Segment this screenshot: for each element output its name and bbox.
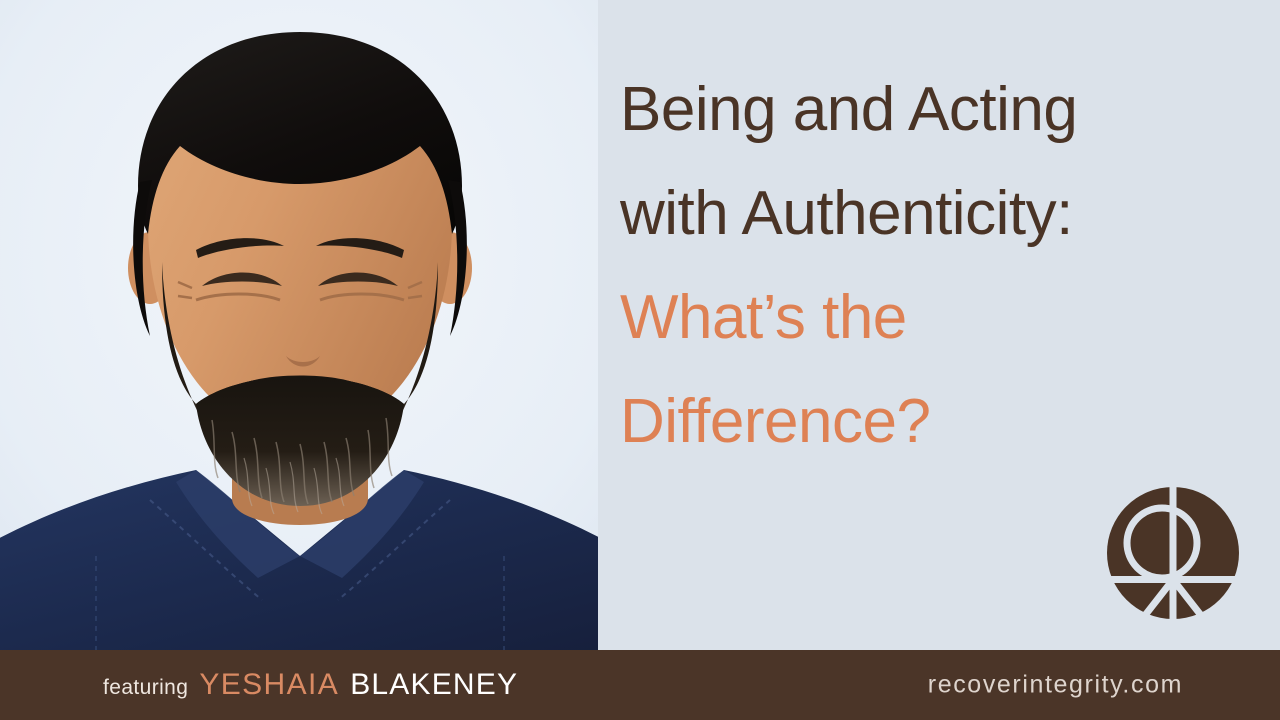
- footer-bar: featuring YESHAIA BLAKENEY recoverintegr…: [0, 650, 1280, 720]
- guest-last-name: BLAKENEY: [350, 668, 518, 702]
- featuring-label: featuring: [103, 676, 188, 700]
- guest-portrait-photo: [0, 0, 598, 650]
- title-line-1: Being and Acting: [620, 58, 1240, 162]
- website-url: recoverintegrity.com: [928, 671, 1183, 700]
- recover-integrity-logo-icon: [1106, 486, 1240, 620]
- title-line-3: What’s the: [620, 266, 1240, 370]
- guest-first-name: YESHAIA: [199, 668, 339, 702]
- portrait-illustration: [0, 0, 598, 650]
- episode-title: Being and Acting with Authenticity: What…: [620, 58, 1240, 474]
- logo-glyph: [1106, 486, 1240, 620]
- title-line-2: with Authenticity:: [620, 162, 1240, 266]
- title-line-4: Difference?: [620, 370, 1240, 474]
- episode-title-card: Being and Acting with Authenticity: What…: [0, 0, 1280, 720]
- featuring-credit: featuring YESHAIA BLAKENEY: [103, 668, 518, 702]
